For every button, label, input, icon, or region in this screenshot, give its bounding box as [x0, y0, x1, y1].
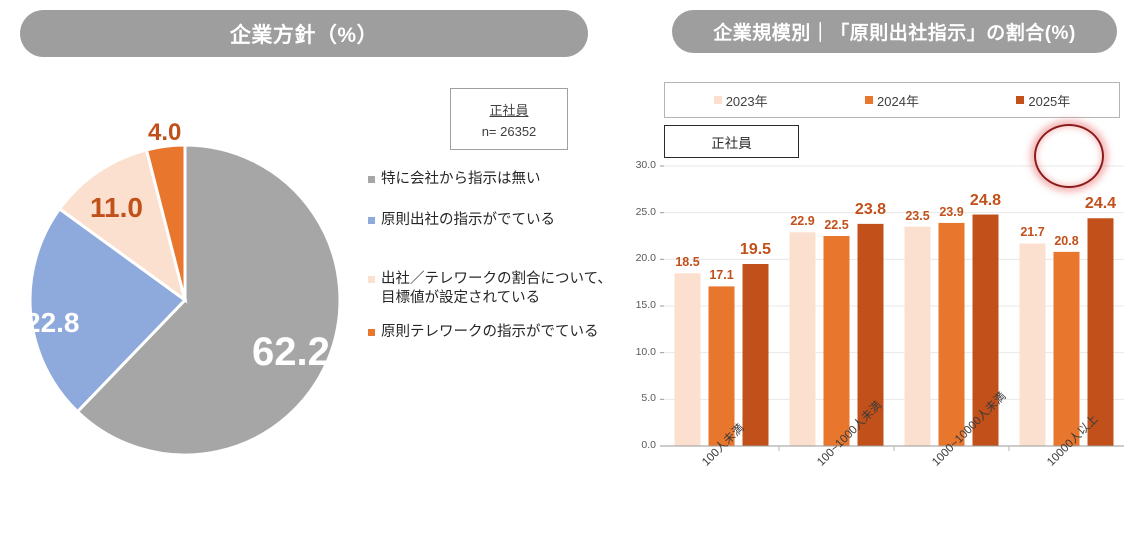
legend-swatch-icon [714, 96, 722, 104]
sample-size-value: n= 26352 [482, 124, 537, 139]
bar-legend-label-2024: 2024年 [877, 91, 919, 110]
legend-swatch-icon [865, 96, 873, 104]
pie-chart-svg [20, 130, 365, 475]
bar-2023年-10000人以上[interactable] [1020, 243, 1046, 446]
bar-2024年-10000人以上[interactable] [1054, 252, 1080, 446]
y-axis-tick-label: 5.0 [624, 392, 656, 404]
bar-legend-item-2024[interactable]: 2024年 [865, 91, 919, 110]
bar-data-label: 22.5 [811, 218, 863, 232]
y-axis-tick-label: 20.0 [624, 252, 656, 264]
bar-2025年-100人未満[interactable] [743, 264, 769, 446]
pie-legend-label-1: 特に会社から指示は無い [381, 170, 541, 189]
legend-swatch-icon [1016, 96, 1024, 104]
bar-2023年-100~1000人未満[interactable] [790, 232, 816, 446]
legend-swatch-icon [368, 217, 375, 224]
pie-chart [20, 130, 365, 475]
bar-data-label: 20.8 [1041, 234, 1093, 248]
legend-swatch-icon [368, 329, 375, 336]
pie-legend-label-3: 出社／テレワークの割合について、目標値が設定されている [381, 270, 623, 308]
bar-data-label: 19.5 [730, 241, 782, 259]
bar-legend-label-2025: 2025年 [1028, 91, 1070, 110]
y-axis-tick-label: 25.0 [624, 206, 656, 218]
slide-canvas: 企業方針（%） 企業規模別｜「原則出社指示」の割合(%) 62.2 22.8 1… [0, 0, 1147, 550]
bar-2024年-100人未満[interactable] [709, 286, 735, 446]
pie-legend-item-2[interactable]: 原則出社の指示がでている [368, 211, 623, 230]
y-axis-tick-label: 10.0 [624, 346, 656, 358]
pie-legend-item-1[interactable]: 特に会社から指示は無い [368, 170, 623, 189]
bar-data-label: 23.8 [845, 201, 897, 219]
sample-size-box: 正社員 n= 26352 [450, 88, 568, 150]
legend-swatch-icon [368, 276, 375, 283]
y-axis-tick-label: 15.0 [624, 299, 656, 311]
pie-legend: 特に会社から指示は無い 原則出社の指示がでている 出社／テレワークの割合について… [368, 170, 623, 364]
bar-chart-legend: 2023年 2024年 2025年 [664, 82, 1120, 118]
bar-data-label: 24.4 [1075, 195, 1127, 213]
sample-size-label: 正社員 [489, 100, 528, 119]
bar-2024年-1000~10000人未満[interactable] [939, 223, 965, 446]
pie-legend-item-3[interactable]: 出社／テレワークの割合について、目標値が設定されている [368, 270, 623, 308]
pie-legend-label-4: 原則テレワークの指示がでている [381, 323, 599, 342]
bar-chart-sample-box: 正社員 [664, 125, 799, 158]
bar-legend-label-2023: 2023年 [726, 91, 768, 110]
bar-data-label: 17.1 [696, 268, 748, 282]
bar-legend-item-2023[interactable]: 2023年 [714, 91, 768, 110]
bar-2024年-100~1000人未満[interactable] [824, 236, 850, 446]
bar-data-label: 18.5 [662, 255, 714, 269]
pie-data-label-2: 22.8 [25, 307, 80, 339]
bar-2023年-100人未満[interactable] [675, 273, 701, 446]
right-chart-title: 企業規模別｜「原則出社指示」の割合(%) [672, 10, 1117, 53]
left-chart-title: 企業方針（%） [20, 10, 588, 57]
pie-data-label-1: 62.2 [252, 330, 330, 375]
y-axis-tick-label: 30.0 [624, 159, 656, 171]
pie-data-label-4: 4.0 [148, 119, 181, 147]
bar-chart-sample-label: 正社員 [711, 132, 752, 152]
y-axis-tick-label: 0.0 [624, 439, 656, 451]
legend-swatch-icon [368, 176, 375, 183]
pie-legend-label-2: 原則出社の指示がでている [381, 211, 555, 230]
bar-2023年-1000~10000人未満[interactable] [905, 227, 931, 446]
pie-data-label-3: 11.0 [90, 192, 143, 224]
bar-data-label: 24.8 [960, 192, 1012, 210]
bar-chart: 2023年 2024年 2025年 正社員 0.05.010.015.020.0… [612, 78, 1132, 538]
bar-legend-item-2025[interactable]: 2025年 [1016, 91, 1070, 110]
pie-legend-item-4[interactable]: 原則テレワークの指示がでている [368, 323, 623, 342]
